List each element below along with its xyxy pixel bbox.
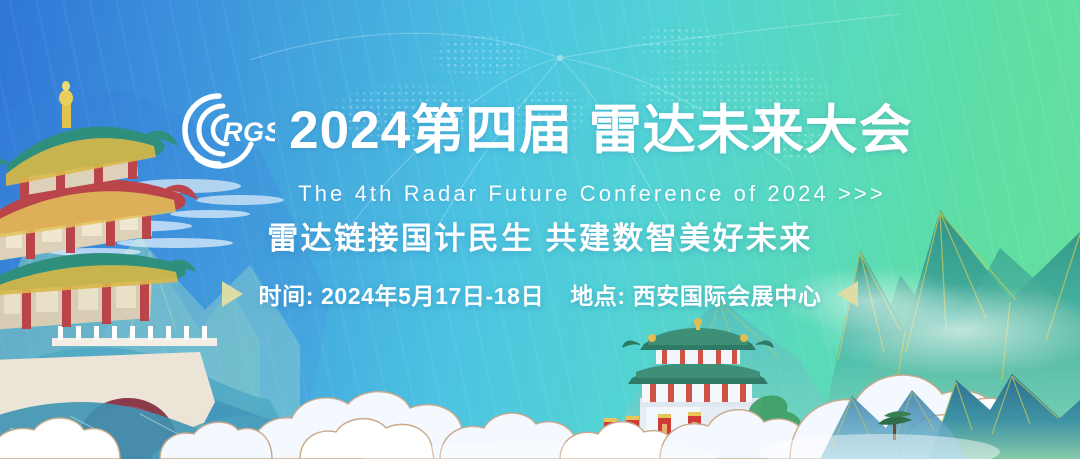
play-triangle-right-icon bbox=[222, 281, 243, 307]
conference-banner: RGS 2024第四届 雷达未来大会 The 4th Radar Future … bbox=[0, 0, 1080, 459]
main-title: 2024第四届 雷达未来大会 bbox=[289, 104, 913, 157]
radar-arc-logo-icon: RGS bbox=[167, 88, 275, 172]
play-triangle-left-icon bbox=[837, 281, 858, 307]
headline-block: RGS 2024第四届 雷达未来大会 The 4th Radar Future … bbox=[0, 88, 1080, 207]
title-row: RGS 2024第四届 雷达未来大会 bbox=[167, 88, 913, 172]
info-text-group: 时间: 2024年5月17日-18日 地点: 西安国际会展中心 bbox=[259, 277, 822, 311]
slogan: 雷达链接国计民生 共建数智美好未来 bbox=[0, 213, 1080, 258]
location-label: 地点: 西安国际会展中心 bbox=[570, 277, 821, 311]
subtitle: The 4th Radar Future Conference of 2024 … bbox=[298, 181, 886, 207]
date-label: 时间: 2024年5月17日-18日 bbox=[259, 277, 545, 311]
logo-text: RGS bbox=[223, 117, 275, 147]
info-line: 时间: 2024年5月17日-18日 地点: 西安国际会展中心 bbox=[0, 277, 1080, 311]
